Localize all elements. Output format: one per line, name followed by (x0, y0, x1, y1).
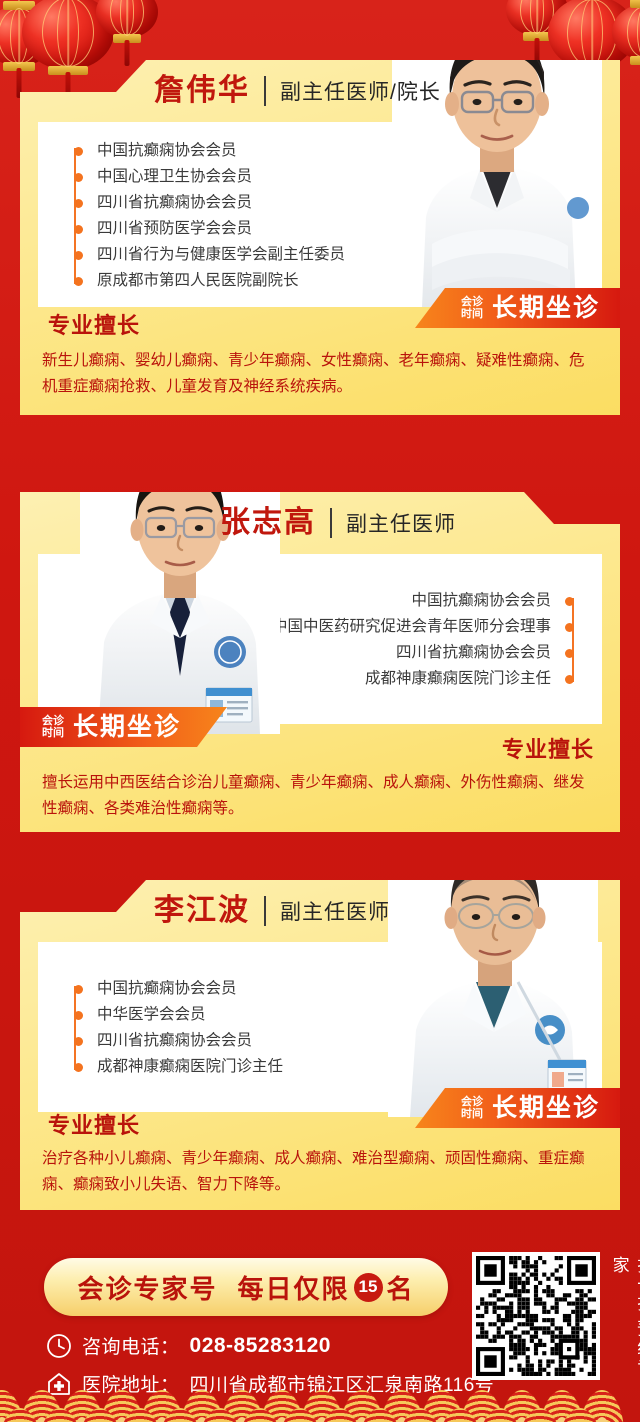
doctor-name: 詹伟华 (154, 76, 250, 106)
badge-label: 会诊 时间 (42, 715, 64, 739)
clock-icon (46, 1333, 72, 1359)
badge-value: 长期坐诊 (492, 1096, 600, 1121)
credential-text: 四川省预防医学会会员 (97, 221, 252, 237)
bullet-dot-icon (565, 597, 574, 606)
pill-text: 会诊专家号 每日仅限 15 名 (77, 1269, 414, 1306)
bullet-dot-icon (565, 623, 574, 632)
credential-text: 四川省抗癫痫协会会员 (97, 195, 252, 211)
credential-list-3: 中国抗癫痫协会会员 中华医学会会员 四川省抗癫痫协会会员 成都神康癫痫医院门诊主… (38, 942, 602, 1096)
decorative-wave-pattern (0, 1380, 640, 1422)
phone-row: 咨询电话： 028-85283120 (46, 1332, 331, 1359)
bullet-dot-icon (74, 147, 83, 156)
credential-list-2: 中国抗癫痫协会会员 中国中医药研究促进会青年医师分会理事 四川省抗癫痫协会会员 … (38, 554, 602, 708)
bullet-dot-icon (74, 1011, 83, 1020)
badge-value: 长期坐诊 (73, 715, 181, 740)
bullet-dot-icon (565, 675, 574, 684)
bullet-dot-icon (74, 199, 83, 208)
specialty-heading-2: 专业擅长 (502, 732, 594, 764)
lantern-icon (506, 0, 568, 36)
credential-text: 成都神康癫痫医院门诊主任 (97, 1059, 283, 1075)
consultation-time-badge-3: 会诊 时间 长期坐诊 (415, 1088, 620, 1128)
list-item: 中国抗癫痫协会会员 (243, 588, 574, 614)
list-item: 四川省抗癫痫协会会员 (74, 1028, 392, 1054)
pill-text-2: 每日仅限 (237, 1269, 349, 1306)
list-item: 四川省抗癫痫协会会员 (74, 190, 402, 216)
name-divider (264, 76, 266, 106)
list-item: 成都神康癫痫医院门诊主任 (243, 666, 574, 692)
pill-text-3: 名 (387, 1269, 415, 1306)
quota-number-badge: 15 (354, 1273, 383, 1302)
credential-text: 四川省抗癫痫协会会员 (396, 645, 551, 661)
qr-code-image (476, 1256, 596, 1376)
list-item: 四川省抗癫痫协会会员 (243, 640, 574, 666)
bullet-dot-icon (74, 1037, 83, 1046)
credential-text: 中国抗癫痫协会会员 (97, 143, 237, 159)
doctor-title: 副主任医师 (280, 896, 390, 926)
list-item: 中国抗癫痫协会会员 (74, 976, 392, 1002)
credential-text: 中国中医药研究促进会青年医师分会理事 (272, 619, 551, 635)
doctor-header-2: 张志高 副主任医师 (20, 492, 620, 554)
phone-label: 咨询电话： (82, 1332, 180, 1359)
doctor-card-1: 詹伟华 副主任医师/院长 中国抗癫痫协会会员 中国心理卫生协会会员 (20, 60, 620, 415)
credential-text: 成都神康癫痫医院门诊主任 (365, 671, 551, 687)
poster-background: 詹伟华 副主任医师/院长 中国抗癫痫协会会员 中国心理卫生协会会员 (0, 0, 640, 1422)
credential-list-1: 中国抗癫痫协会会员 中国心理卫生协会会员 四川省抗癫痫协会会员 四川省预防医学会… (38, 122, 602, 310)
credential-text: 中华医学会会员 (97, 1007, 206, 1023)
specialty-heading-3: 专业擅长 (48, 1108, 140, 1140)
credential-panel-2: 中国抗癫痫协会会员 中国中医药研究促进会青年医师分会理事 四川省抗癫痫协会会员 … (38, 554, 602, 724)
qr-code[interactable] (472, 1252, 600, 1380)
doctor-title: 副主任医师 (346, 508, 456, 538)
lantern-icon (0, 6, 56, 66)
doctor-title: 副主任医师/院长 (280, 76, 441, 106)
badge-label: 会诊 时间 (461, 296, 483, 320)
credential-panel-1: 中国抗癫痫协会会员 中国心理卫生协会会员 四川省抗癫痫协会会员 四川省预防医学会… (38, 122, 602, 307)
doctor-header-1: 詹伟华 副主任医师/院长 (20, 60, 620, 122)
credential-text: 中国抗癫痫协会会员 (411, 593, 551, 609)
name-divider (330, 508, 332, 538)
list-item: 中国心理卫生协会会员 (74, 164, 402, 190)
doctor-header-3: 李江波 副主任医师 (20, 880, 620, 942)
consultation-time-badge-2: 会诊 时间 长期坐诊 (20, 707, 227, 747)
lantern-icon (612, 4, 640, 60)
pill-text-1: 会诊专家号 (77, 1269, 217, 1306)
credential-panel-3: 中国抗癫痫协会会员 中华医学会会员 四川省抗癫痫协会会员 成都神康癫痫医院门诊主… (38, 942, 602, 1112)
specialty-text-2: 擅长运用中西医结合诊治儿童癫痫、青少年癫痫、成人癫痫、外伤性癫痫、继发性癫痫、各… (42, 770, 598, 822)
list-item: 中国抗癫痫协会会员 (74, 138, 402, 164)
bullet-dot-icon (74, 277, 83, 286)
lantern-icon (22, 0, 114, 70)
list-item: 原成都市第四人民医院副院长 (74, 268, 402, 294)
list-item: 成都神康癫痫医院门诊主任 (74, 1054, 392, 1080)
credential-text: 四川省抗癫痫协会会员 (97, 1033, 252, 1049)
list-item: 中华医学会会员 (74, 1002, 392, 1028)
expert-quota-pill[interactable]: 会诊专家号 每日仅限 15 名 (44, 1258, 448, 1316)
phone-value[interactable]: 028-85283120 (190, 1334, 331, 1358)
list-item: 四川省行为与健康医学会副主任委员 (74, 242, 402, 268)
specialty-text-3: 治疗各种小儿癫痫、青少年癫痫、成人癫痫、难治型癫痫、顽固性癫痫、重症癫痫、癫痫致… (42, 1146, 598, 1198)
credential-text: 中国心理卫生协会会员 (97, 169, 252, 185)
bullet-dot-icon (74, 251, 83, 260)
bullet-dot-icon (74, 985, 83, 994)
consultation-time-badge-1: 会诊 时间 长期坐诊 (415, 288, 620, 328)
bullet-dot-icon (74, 173, 83, 182)
credential-text: 四川省行为与健康医学会副主任委员 (97, 247, 345, 263)
lantern-icon (96, 0, 158, 38)
credential-text: 中国抗癫痫协会会员 (97, 981, 237, 997)
scan-instruction-text: 扫一扫 预约专家 (606, 1256, 640, 1381)
specialty-text-1: 新生儿癫痫、婴幼儿癫痫、青少年癫痫、女性癫痫、老年癫痫、疑难性癫痫、危机重症癫痫… (42, 348, 598, 400)
doctor-card-3: 李江波 副主任医师 中国抗癫痫协会会员 中华医学会会员 (20, 880, 620, 1210)
doctor-name: 张志高 (220, 508, 316, 538)
doctor-name: 李江波 (154, 896, 250, 926)
name-divider (264, 896, 266, 926)
lantern-icon (548, 0, 636, 70)
badge-value: 长期坐诊 (492, 296, 600, 321)
bullet-dot-icon (74, 225, 83, 234)
bullet-dot-icon (565, 649, 574, 658)
credential-text: 原成都市第四人民医院副院长 (97, 273, 299, 289)
wave-row (0, 1408, 598, 1422)
specialty-heading-1: 专业擅长 (48, 308, 140, 340)
list-item: 中国中医药研究促进会青年医师分会理事 (243, 614, 574, 640)
doctor-card-2: 张志高 副主任医师 中国抗癫痫协会会员 中国中医药研究促进会青年医师分会理事 (20, 492, 620, 832)
list-item: 四川省预防医学会会员 (74, 216, 402, 242)
bullet-dot-icon (74, 1063, 83, 1072)
badge-label: 会诊 时间 (461, 1096, 483, 1120)
